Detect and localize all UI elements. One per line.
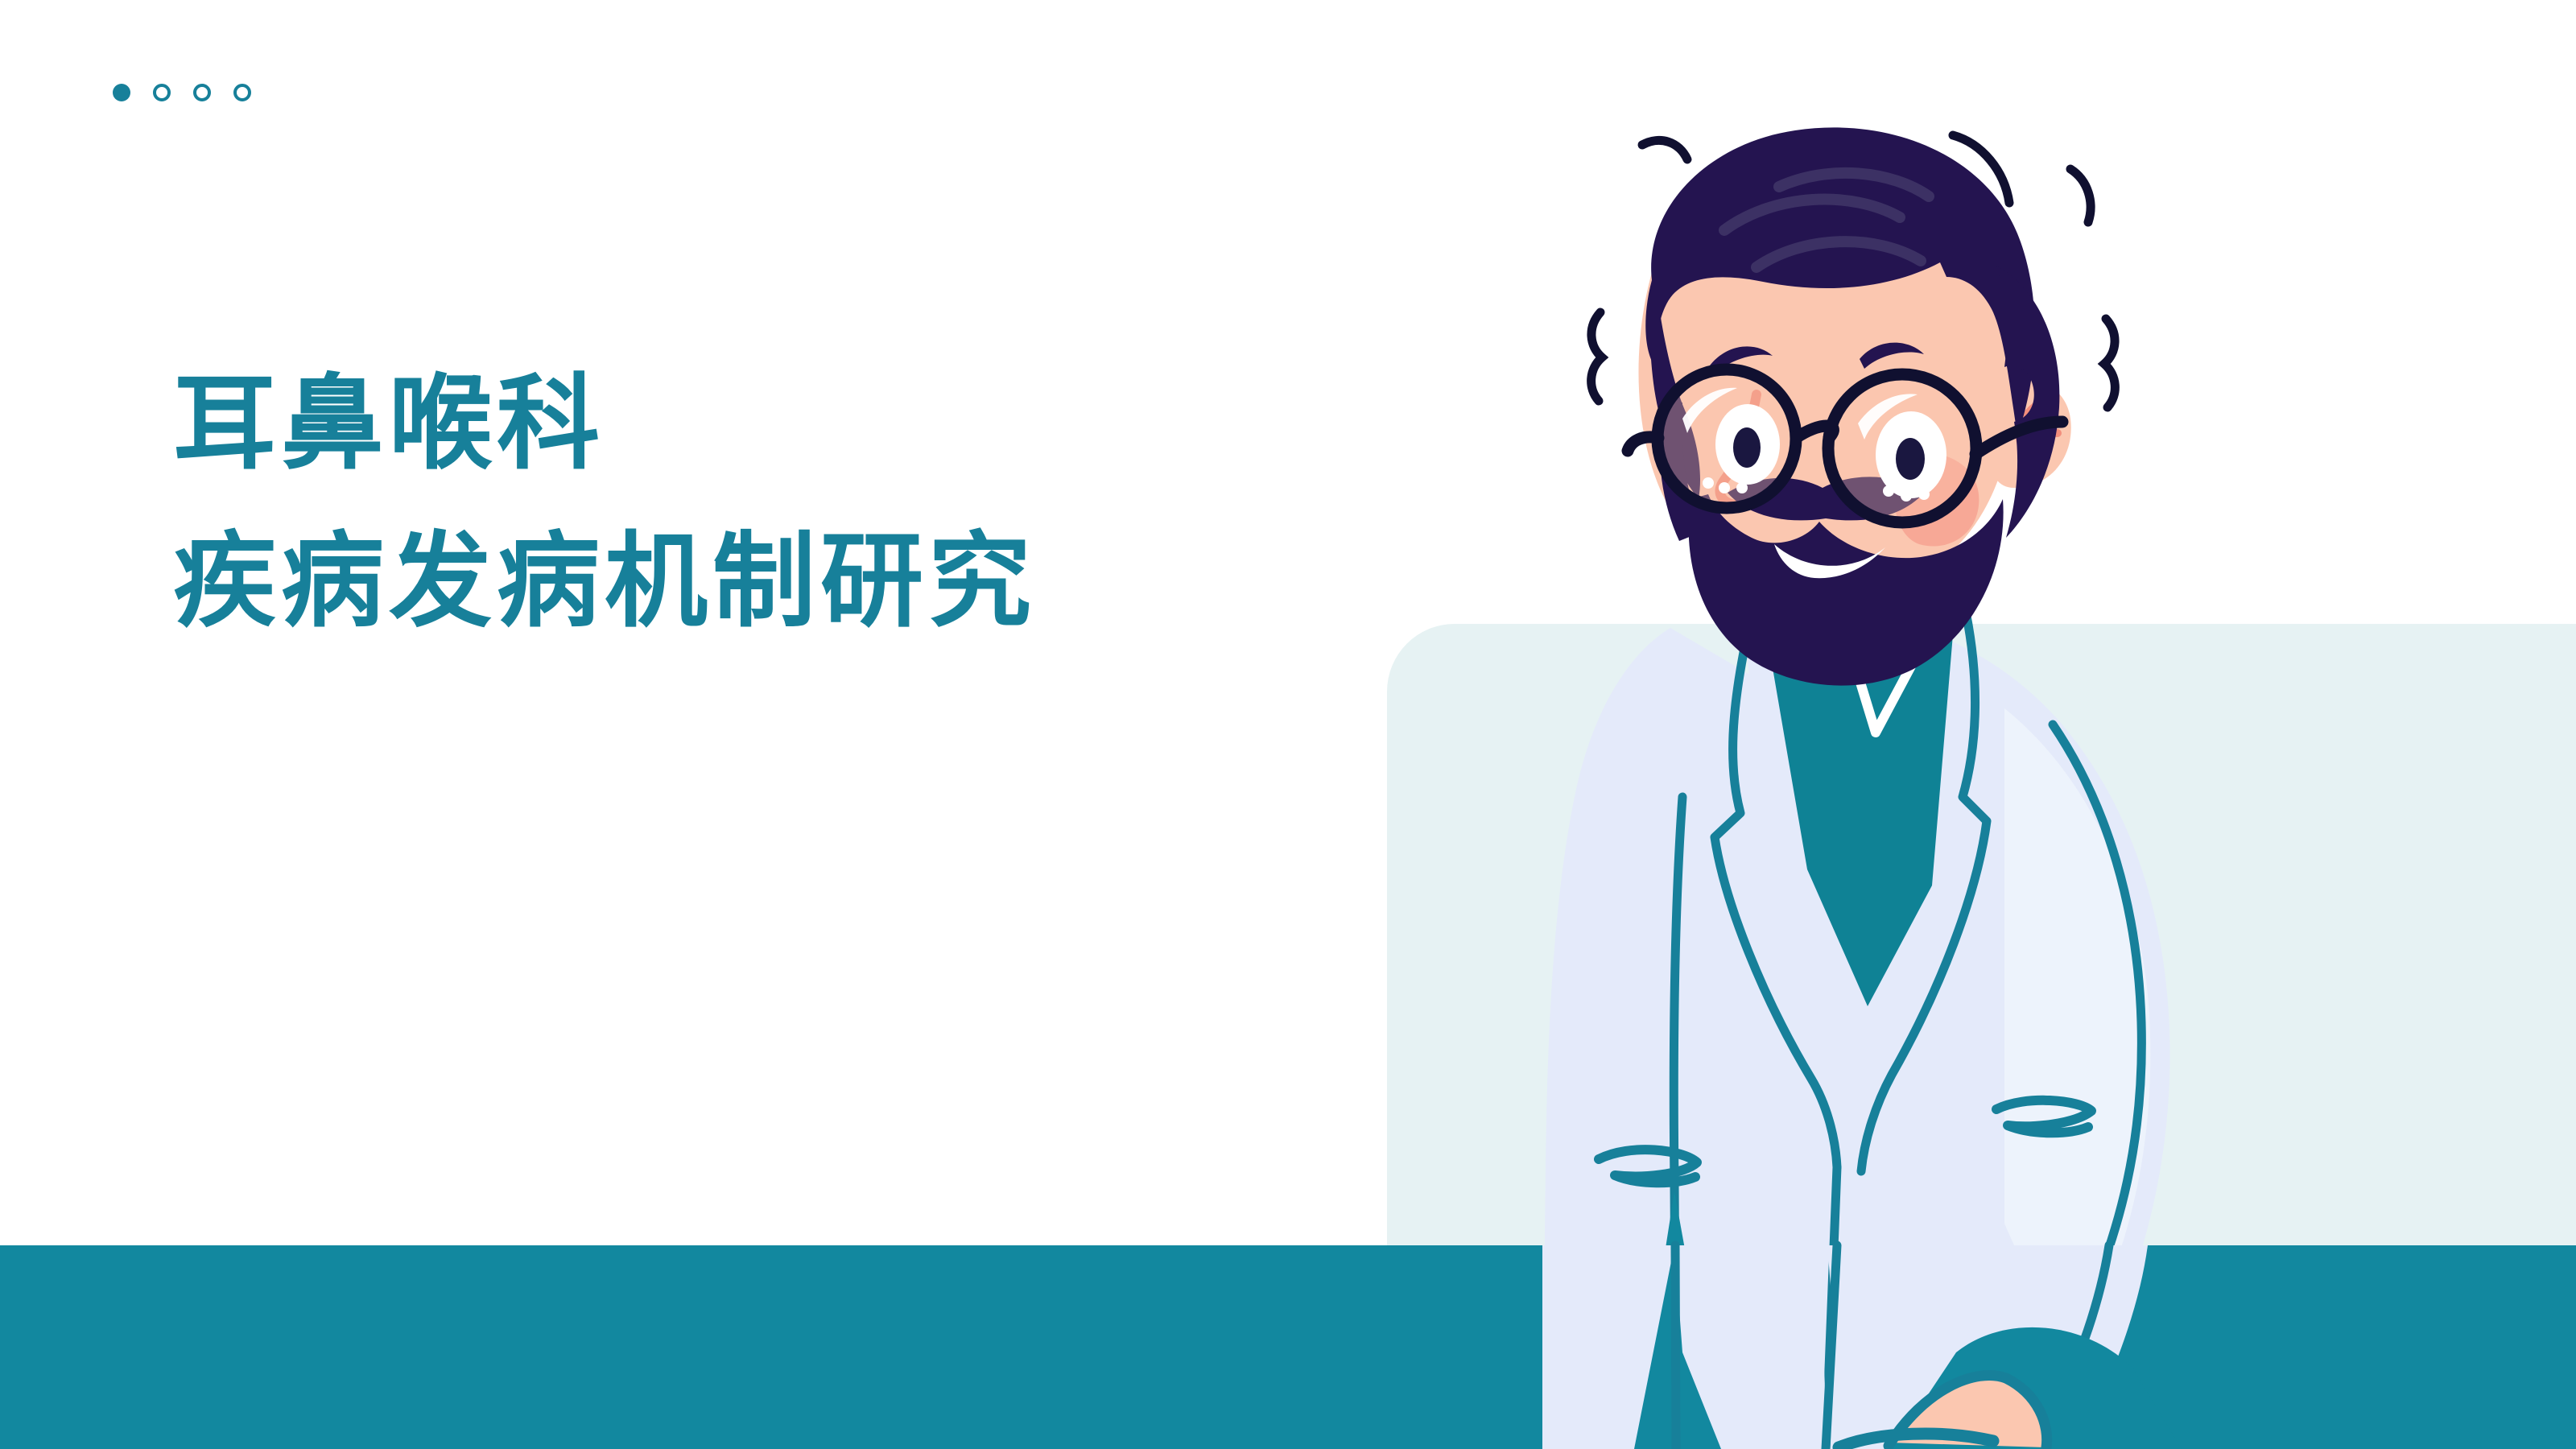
pagination-dot-1[interactable] — [113, 84, 130, 101]
pagination-dot-3[interactable] — [193, 84, 211, 101]
title-line-1: 耳鼻喉科 — [173, 364, 1036, 485]
head — [1591, 127, 2116, 685]
doctor-illustration — [1441, 97, 2326, 1449]
pagination-dots[interactable] — [113, 84, 251, 101]
pagination-dot-2[interactable] — [153, 84, 171, 101]
slide-root: 耳鼻喉科 疾病发病机制研究 — [0, 0, 2576, 1449]
title-line-2: 疾病发病机制研究 — [173, 522, 1036, 642]
pagination-dot-4[interactable] — [233, 84, 251, 101]
page-title: 耳鼻喉科 疾病发病机制研究 — [173, 364, 1036, 642]
